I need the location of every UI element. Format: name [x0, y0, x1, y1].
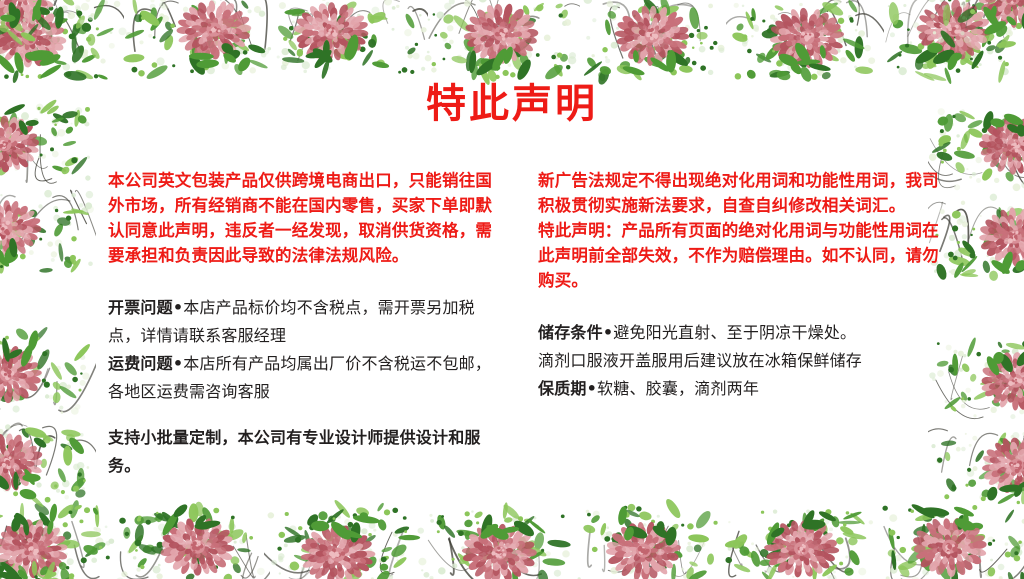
shipping-item-label: 运费问题: [108, 354, 173, 373]
custom-service-note: 支持小批量定制，本公司有专业设计师提供设计和服务。: [108, 424, 500, 480]
bullet-icon: •: [173, 354, 183, 373]
bullet-icon: •: [587, 379, 597, 398]
storage-extra-note: 滴剂口服液开盖服用后建议放在冰箱保鲜储存: [538, 347, 948, 375]
spacer: [538, 293, 948, 319]
storage-item-label: 储存条件: [538, 323, 603, 342]
ad-law-notice-red: 新广告法规定不得出现绝对化用词和功能性用词，我司积极贯彻实施新法要求，自查自纠修…: [538, 168, 948, 218]
right-column: 新广告法规定不得出现绝对化用词和功能性用词，我司积极贯彻实施新法要求，自查自纠修…: [538, 168, 948, 403]
shelf-life-item: 保质期•软糖、胶囊，滴剂两年: [538, 375, 948, 403]
declaration-poster: 特此声明 本公司英文包装产品仅供跨境电商出口，只能销往国外市场，所有经销商不能在…: [0, 0, 1024, 579]
invoice-item: 开票问题•本店产品标价均不含税点，需开票另加税点，详情请联系客服经理: [108, 294, 500, 350]
export-notice-red: 本公司英文包装产品仅供跨境电商出口，只能销往国外市场，所有经销商不能在国内零售，…: [108, 168, 500, 268]
poster-content: 特此声明 本公司英文包装产品仅供跨境电商出口，只能销往国外市场，所有经销商不能在…: [0, 0, 1024, 579]
bullet-icon: •: [173, 298, 183, 317]
page-title: 特此声明: [0, 82, 1024, 126]
shipping-item: 运费问题•本店所有产品均属出厂价不含税运不包邮，各地区运费需咨询客服: [108, 350, 500, 406]
left-column: 本公司英文包装产品仅供跨境电商出口，只能销往国外市场，所有经销商不能在国内零售，…: [108, 168, 500, 480]
spacer: [108, 406, 500, 424]
storage-item-text: 避免阳光直射、至于阴凉干燥处。: [613, 323, 856, 342]
shelf-life-label: 保质期: [538, 379, 587, 398]
declaration-notice-red: 特此声明：产品所有页面的绝对化用词与功能性用词在此声明前全部失效，不作为赔偿理由…: [538, 218, 948, 293]
spacer: [108, 268, 500, 294]
storage-item: 储存条件•避免阳光直射、至于阴凉干燥处。: [538, 319, 948, 347]
bullet-icon: •: [603, 323, 613, 342]
invoice-item-label: 开票问题: [108, 298, 173, 317]
shelf-life-text: 软糖、胶囊，滴剂两年: [597, 379, 759, 398]
